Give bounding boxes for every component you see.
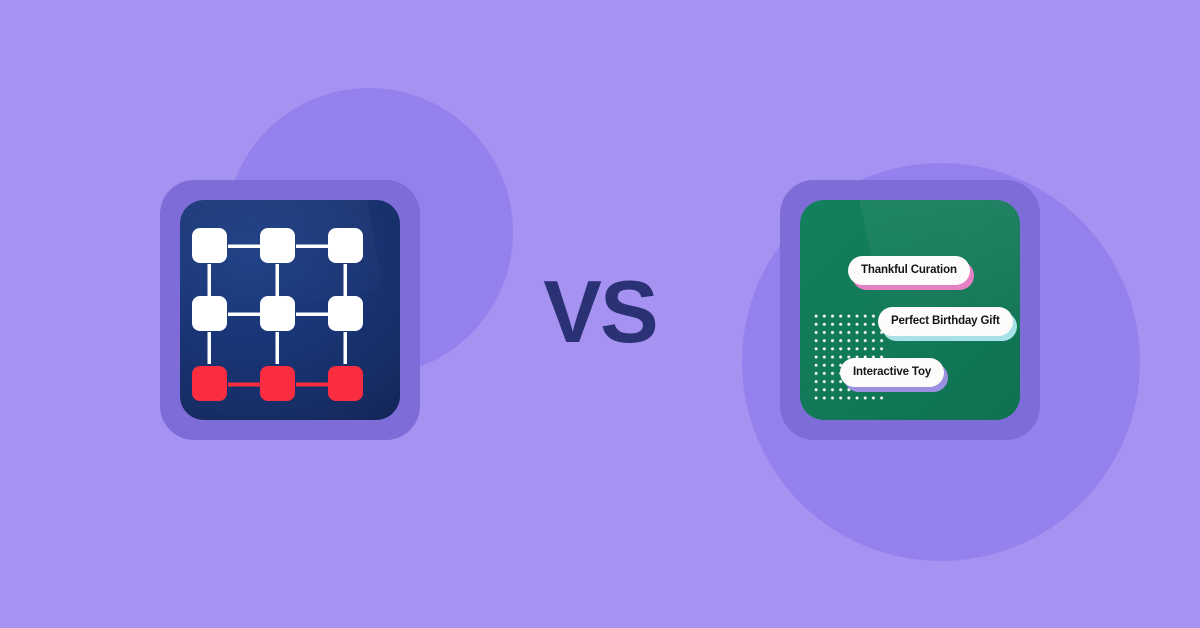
- link-r1c2-r2c2: [276, 264, 280, 296]
- node-r2c1: [192, 296, 227, 331]
- link-r2c2-r3c2: [276, 332, 280, 364]
- link-r3c2-r3c3: [296, 383, 328, 387]
- node-r3c3: [328, 366, 363, 401]
- comparison-banner: VS Thankful Curation Perfect Birthday Gi…: [0, 0, 1200, 628]
- link-r2c3-r3c3: [344, 332, 348, 364]
- node-r3c1: [192, 366, 227, 401]
- left-card-frame: [160, 180, 420, 440]
- network-graph: [180, 200, 400, 420]
- chip-label: Thankful Curation: [848, 256, 970, 285]
- link-r2c1-r3c1: [208, 332, 212, 364]
- link-r1c1-r2c1: [208, 264, 212, 296]
- link-r1c1-r1c2: [228, 245, 260, 249]
- node-r2c3: [328, 296, 363, 331]
- node-r3c2: [260, 366, 295, 401]
- node-r1c1: [192, 228, 227, 263]
- link-r1c2-r1c3: [296, 245, 328, 249]
- link-r2c1-r2c2: [228, 313, 260, 317]
- product-tags-panel: Thankful Curation Perfect Birthday Gift …: [800, 200, 1020, 420]
- chip-interactive-toy: Interactive Toy: [840, 358, 944, 387]
- chip-label: Perfect Birthday Gift: [878, 307, 1013, 336]
- link-r3c1-r3c2: [228, 383, 260, 387]
- node-r1c3: [328, 228, 363, 263]
- node-r2c2: [260, 296, 295, 331]
- vs-label: VS: [500, 268, 700, 356]
- link-r1c3-r2c3: [344, 264, 348, 296]
- chip-thankful-curation: Thankful Curation: [848, 256, 970, 285]
- right-card-frame: Thankful Curation Perfect Birthday Gift …: [780, 180, 1040, 440]
- link-r2c2-r2c3: [296, 313, 328, 317]
- chip-perfect-birthday-gift: Perfect Birthday Gift: [878, 307, 1013, 336]
- node-r1c2: [260, 228, 295, 263]
- chip-label: Interactive Toy: [840, 358, 944, 387]
- network-grid-panel: [180, 200, 400, 420]
